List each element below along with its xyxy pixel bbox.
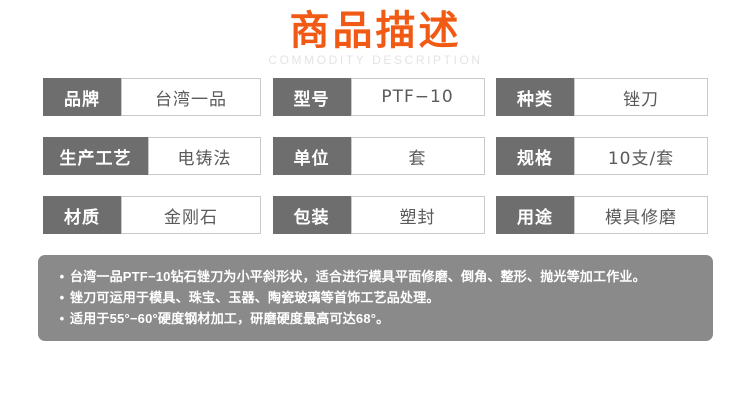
spec-label: 规格: [496, 137, 574, 175]
spec-cell-specification: 规格 10支/套: [496, 137, 708, 175]
spec-cell-process: 生产工艺 电铸法: [43, 137, 261, 175]
bullet-icon: •: [54, 287, 70, 308]
bullet-icon: •: [54, 308, 70, 329]
spec-cell-usage: 用途 模具修磨: [496, 196, 708, 234]
specification-table: 品牌 台湾一品 型号 PTF−10 种类 锉刀 生产工艺 电铸法 单位 套 规: [43, 78, 708, 234]
table-row: 品牌 台湾一品 型号 PTF−10 种类 锉刀: [43, 78, 708, 116]
bullet-icon: •: [54, 266, 70, 287]
spec-cell-material: 材质 金刚石: [43, 196, 261, 234]
notes-panel: • 台湾一品PTF−10钻石锉刀为小平斜形状，适合进行模具平面修磨、倒角、整形、…: [38, 255, 713, 341]
spec-label: 包装: [273, 196, 351, 234]
section-header: 商品描述 COMMODITY DESCRIPTION: [0, 0, 751, 68]
spec-value: 模具修磨: [574, 196, 708, 234]
note-text: 锉刀可运用于模具、珠宝、玉器、陶瓷玻璃等首饰工艺品处理。: [70, 287, 697, 308]
spec-label: 品牌: [43, 78, 121, 116]
spec-cell-category: 种类 锉刀: [496, 78, 708, 116]
spec-value: 套: [351, 137, 485, 175]
spec-cell-brand: 品牌 台湾一品: [43, 78, 261, 116]
spec-label: 材质: [43, 196, 121, 234]
list-item: • 锉刀可运用于模具、珠宝、玉器、陶瓷玻璃等首饰工艺品处理。: [54, 287, 697, 308]
spec-cell-model: 型号 PTF−10: [273, 78, 485, 116]
spec-value: PTF−10: [351, 78, 485, 116]
spec-label: 单位: [273, 137, 351, 175]
product-description-page: 商品描述 COMMODITY DESCRIPTION 品牌 台湾一品 型号 PT…: [0, 0, 751, 401]
list-item: • 台湾一品PTF−10钻石锉刀为小平斜形状，适合进行模具平面修磨、倒角、整形、…: [54, 266, 697, 287]
spec-label: 型号: [273, 78, 351, 116]
spec-value: 电铸法: [148, 137, 261, 175]
table-row: 材质 金刚石 包装 塑封 用途 模具修磨: [43, 196, 708, 234]
note-text: 台湾一品PTF−10钻石锉刀为小平斜形状，适合进行模具平面修磨、倒角、整形、抛光…: [70, 266, 697, 287]
page-title: 商品描述: [0, 8, 751, 54]
spec-label: 种类: [496, 78, 574, 116]
spec-value: 10支/套: [574, 137, 708, 175]
spec-label: 用途: [496, 196, 574, 234]
list-item: • 适用于55°−60°硬度钢材加工，研磨硬度最高可达68°。: [54, 308, 697, 329]
spec-value: 锉刀: [574, 78, 708, 116]
spec-cell-unit: 单位 套: [273, 137, 485, 175]
spec-value: 台湾一品: [121, 78, 261, 116]
page-subtitle: COMMODITY DESCRIPTION: [0, 52, 751, 68]
spec-value: 塑封: [351, 196, 485, 234]
spec-value: 金刚石: [121, 196, 261, 234]
spec-cell-packaging: 包装 塑封: [273, 196, 485, 234]
table-row: 生产工艺 电铸法 单位 套 规格 10支/套: [43, 137, 708, 175]
note-text: 适用于55°−60°硬度钢材加工，研磨硬度最高可达68°。: [70, 308, 697, 329]
spec-label: 生产工艺: [43, 137, 148, 175]
